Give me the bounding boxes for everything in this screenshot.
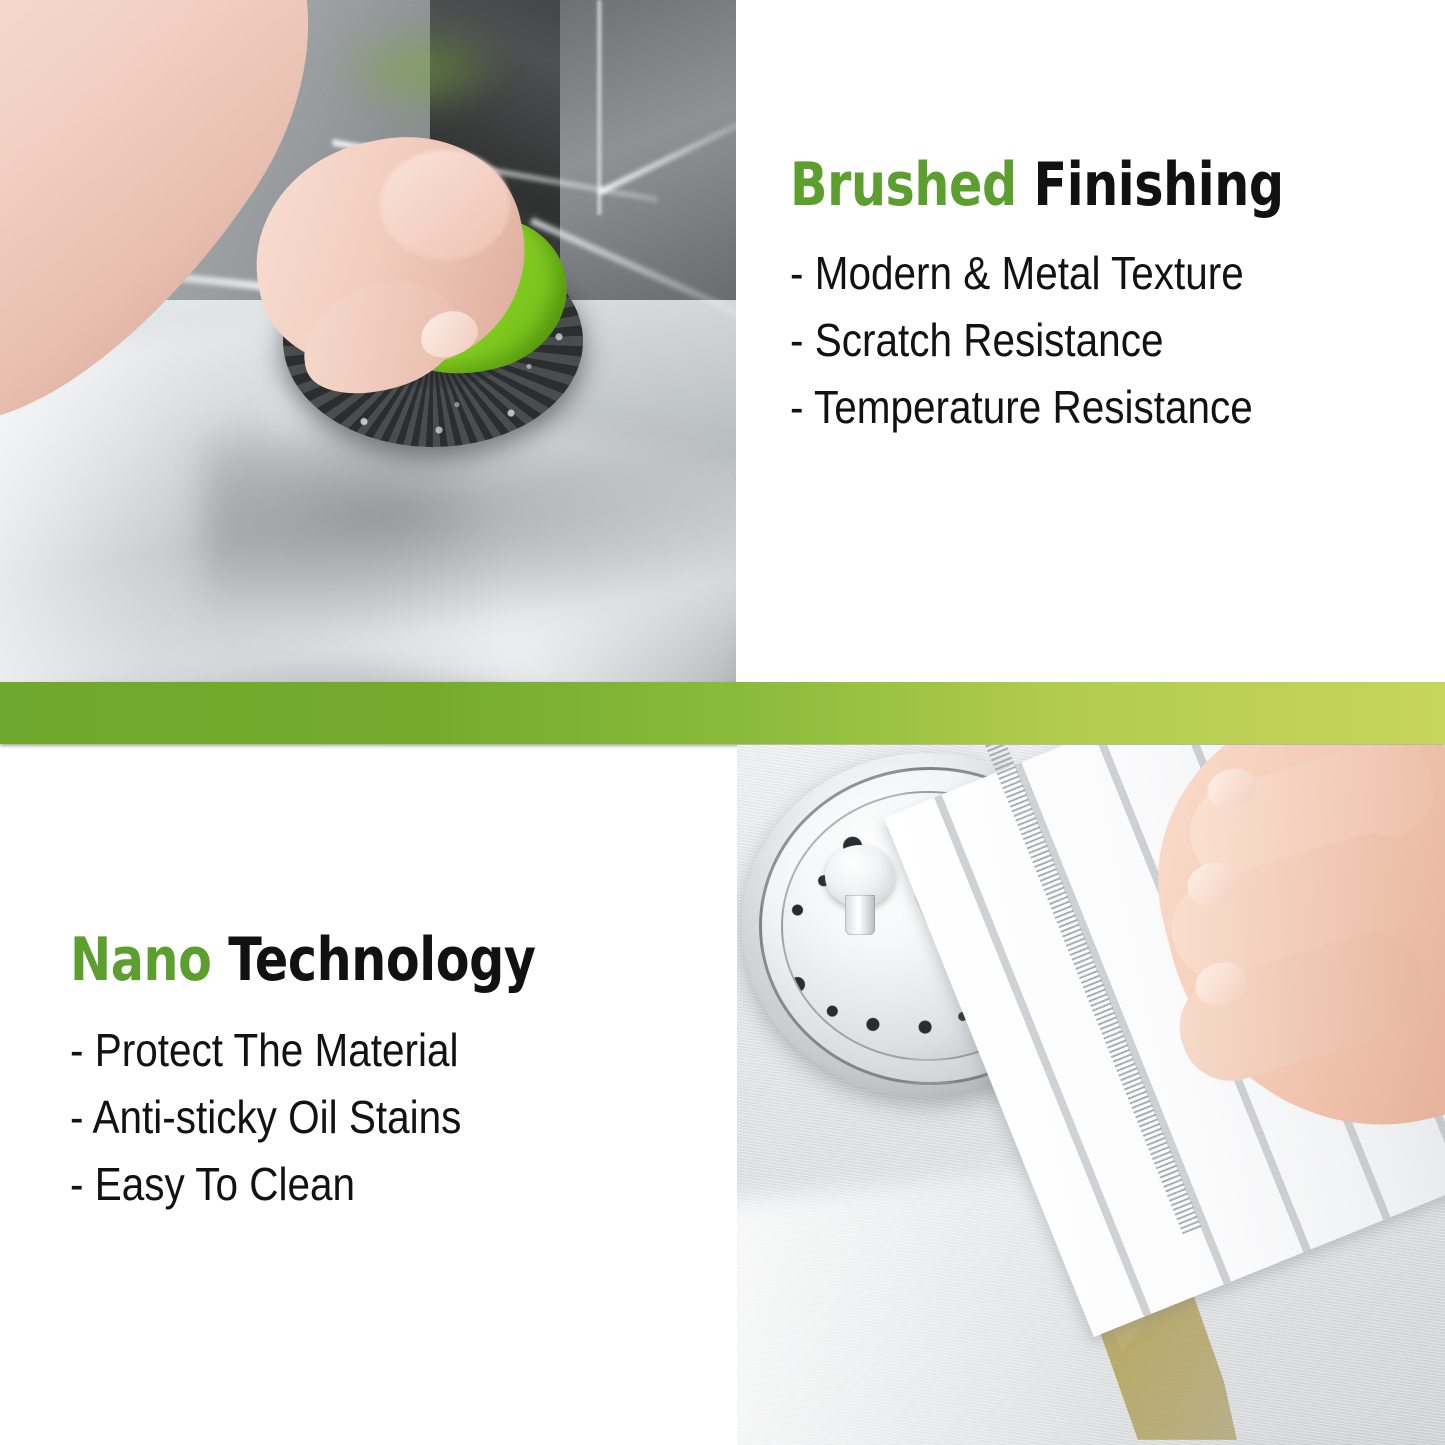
brushed-finishing-heading: Brushed Finishing [790, 155, 1298, 216]
nano-technology-heading: Nano Technology [70, 930, 595, 991]
product-infographic-poster: Brushed Finishing - Modern & Metal Textu… [0, 0, 1445, 1445]
heading-accent-word: Nano [70, 925, 228, 995]
sink-drain-oil-wipe-photo [737, 745, 1445, 1445]
green-reflection-glow [330, 20, 510, 120]
hand-scrubbing-sink-corner-photo [0, 0, 736, 682]
scrubber-shadow [200, 430, 736, 640]
feature-item: - Protect The Material [70, 1017, 633, 1084]
feature-item: - Anti-sticky Oil Stains [70, 1084, 633, 1151]
feature-item: - Scratch Resistance [790, 307, 1336, 374]
brushed-finishing-feature-list: - Modern & Metal Texture - Scratch Resis… [790, 240, 1410, 440]
knuckles [380, 150, 510, 260]
sink-corner-seam [596, 0, 603, 215]
feature-item: - Modern & Metal Texture [790, 240, 1336, 307]
nano-technology-feature-list: - Protect The Material - Anti-sticky Oil… [70, 1017, 710, 1217]
strainer-stem [845, 895, 875, 935]
heading-plain-word: Finishing [1034, 150, 1284, 220]
brushed-finishing-text-block: Brushed Finishing - Modern & Metal Textu… [790, 155, 1410, 440]
green-gradient-divider [0, 682, 1445, 744]
nano-technology-text-block: Nano Technology - Protect The Material -… [70, 930, 710, 1217]
feature-item: - Temperature Resistance [790, 374, 1336, 441]
feature-item: - Easy To Clean [70, 1151, 633, 1218]
heading-plain-word: Technology [228, 925, 535, 995]
heading-accent-word: Brushed [790, 150, 1034, 220]
